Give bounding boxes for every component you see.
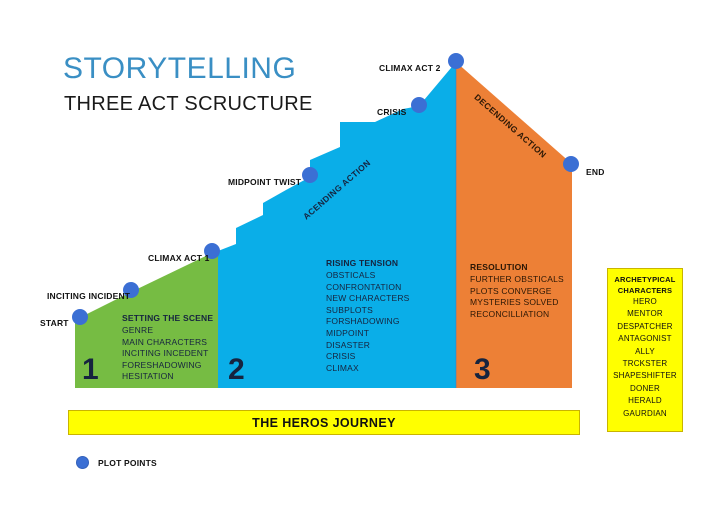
plot-point-label: START [40,318,69,328]
act3-heading: RESOLUTION [470,262,564,272]
archetype-item: SHAPESHIFTER [613,370,677,382]
plot-point-dot [72,309,88,325]
plot-point-dot [448,53,464,69]
archetype-item: DONER [613,383,677,395]
act2-heading: RISING TENSION [326,258,410,268]
archetype-item: ANTAGONIST [613,333,677,345]
act2-item: DISASTER [326,340,410,352]
act2-item: NEW CHARACTERS [326,293,410,305]
page-title: STORYTELLING [63,52,296,86]
act3-text-block: RESOLUTION FURTHER OBSTICALSPLOTS CONVER… [470,262,564,320]
archetype-item: MENTOR [613,308,677,320]
act-number-3: 3 [474,355,491,385]
plot-point-label: CRISIS [377,107,407,117]
archetype-item: DESPATCHER [613,321,677,333]
plot-point-dot [302,167,318,183]
archetypes-list: HEROMENTORDESPATCHERANTAGONISTALLYTRCKST… [613,296,677,420]
act1-heading: SETTING THE SCENE [122,313,213,323]
archetype-item: GAURDIAN [613,408,677,420]
act1-item: HESITATION [122,371,213,383]
act2-item: FORSHADOWING [326,316,410,328]
act1-item: INCITING INCEDENT [122,348,213,360]
archetypes-heading-line1: ARCHETYPICAL [614,274,675,285]
legend: PLOT POINTS [76,456,157,469]
archetype-item: ALLY [613,346,677,358]
legend-label: PLOT POINTS [98,458,157,468]
plot-point-dot [411,97,427,113]
heros-journey-label: THE HEROS JOURNEY [252,416,396,430]
act-number-2: 2 [228,355,245,385]
archetypal-characters-box: ARCHETYPICAL CHARACTERS HEROMENTORDESPAT… [607,268,683,432]
act3-item: RECONCILLIATION [470,309,564,321]
page-subtitle: THREE ACT SCRUCTURE [64,93,313,116]
act-number-1: 1 [82,355,99,385]
plot-point-label: CLIMAX ACT 2 [379,63,441,73]
archetype-item: TRCKSTER [613,358,677,370]
act1-item: GENRE [122,325,213,337]
act2-item: CRISIS [326,351,410,363]
act2-item: CONFRONTATION [326,282,410,294]
storytelling-diagram: STORYTELLING THREE ACT SCRUCTURE STARTIN… [0,0,720,509]
act2-item: OBSTICALS [326,270,410,282]
plot-point-dot [563,156,579,172]
plot-point-label: END [586,167,605,177]
act2-item: CLIMAX [326,363,410,375]
act3-item: MYSTERIES SOLVED [470,297,564,309]
archetype-item: HERALD [613,395,677,407]
act1-text-block: SETTING THE SCENE GENREMAIN CHARACTERSIN… [122,313,213,383]
act3-item: FURTHER OBSTICALS [470,274,564,286]
plot-point-label: CLIMAX ACT 1 [148,253,210,263]
act2-item-list: OBSTICALSCONFRONTATIONNEW CHARACTERSSUBP… [326,270,410,374]
act1-item-list: GENREMAIN CHARACTERSINCITING INCEDENTFOR… [122,325,213,383]
heros-journey-banner: THE HEROS JOURNEY [68,410,580,435]
plot-point-icon [76,456,89,469]
act2-item: SUBPLOTS [326,305,410,317]
act1-item: FORESHADOWING [122,360,213,372]
act3-item: PLOTS CONVERGE [470,286,564,298]
plot-point-label: INCITING INCIDENT [47,291,130,301]
act3-item-list: FURTHER OBSTICALSPLOTS CONVERGEMYSTERIES… [470,274,564,320]
act1-item: MAIN CHARACTERS [122,337,213,349]
plot-point-label: MIDPOINT TWIST [228,177,301,187]
act2-text-block: RISING TENSION OBSTICALSCONFRONTATIONNEW… [326,258,410,374]
archetypes-heading-line2: CHARACTERS [618,285,673,296]
act2-item: MIDPOINT [326,328,410,340]
archetype-item: HERO [613,296,677,308]
